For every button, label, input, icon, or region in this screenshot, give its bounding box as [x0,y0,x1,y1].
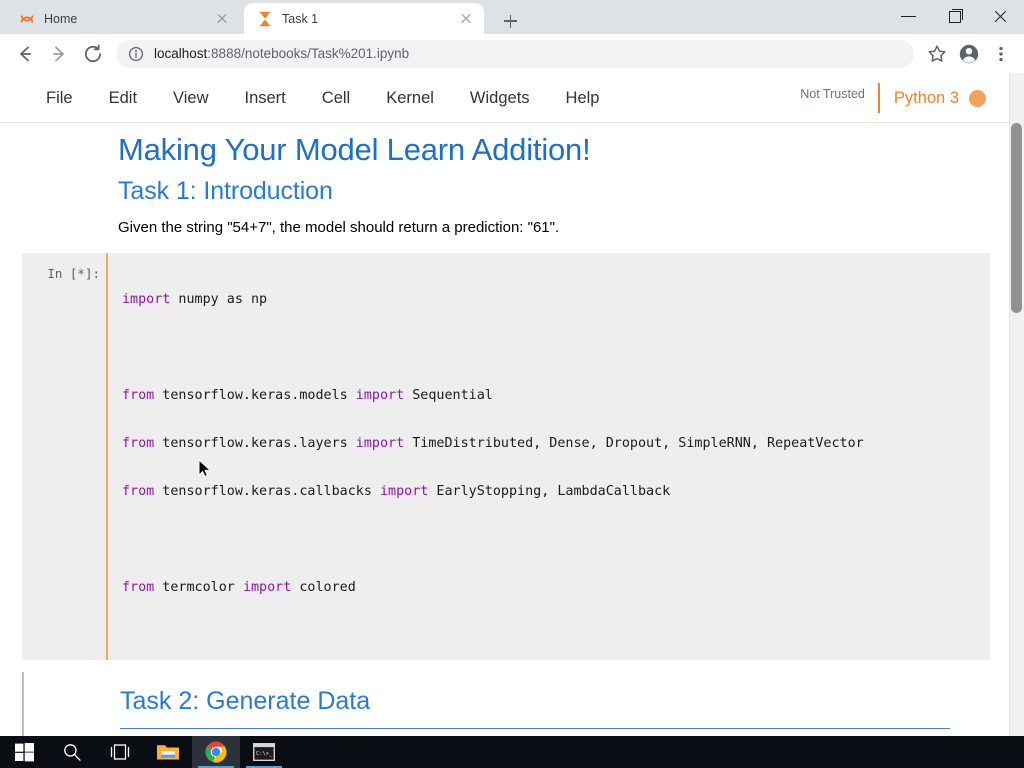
code-blank-line [122,528,990,552]
folder-icon [156,742,180,762]
code-text: numpy as np [170,292,267,307]
tab-title: Home [44,12,205,26]
code-keyword: import [122,292,170,307]
code-text: termcolor [154,580,243,595]
start-button[interactable] [0,736,48,768]
profile-avatar-icon[interactable] [954,39,984,69]
url-path: :8888/notebooks/Task%201.ipynb [207,46,409,61]
browser-tab-home[interactable]: Home [6,3,240,34]
svg-text:C:\>_: C:\>_ [256,751,273,757]
back-icon[interactable] [8,37,42,71]
tab-strip: Home Task 1 [0,0,1024,34]
toolbar-right-icons [922,39,1016,69]
reload-icon[interactable] [76,37,110,71]
code-text: colored [291,580,356,595]
code-line: from tensorflow.keras.callbacks import E… [122,480,990,504]
vertical-scrollbar[interactable] [1009,73,1024,736]
notebook-title: Making Your Model Learn Addition! [118,130,972,171]
code-keyword: import [356,436,404,451]
code-cell-imports[interactable]: In [*]: import numpy as np from tensorfl… [22,253,990,660]
terminal-button[interactable]: C:\>_ [240,736,288,768]
close-icon[interactable] [214,11,230,27]
code-keyword: from [122,436,154,451]
markdown-cell-intro[interactable]: Making Your Model Learn Addition! Task 1… [22,124,990,239]
cell-prompt: In [*]: [22,253,106,660]
terminal-icon: C:\>_ [253,743,275,761]
file-explorer-button[interactable] [144,736,192,768]
jupyter-menubar: File Edit View Insert Cell Kernel Widget… [0,73,1024,123]
menu-help[interactable]: Help [548,73,618,123]
code-text: EarlyStopping, LambdaCallback [428,484,670,499]
more-menu-icon[interactable] [986,39,1016,69]
kernel-status-area: Not Trusted Python 3 [800,73,986,123]
markdown-cell-task2[interactable]: Task 2: Generate Data Note: If you are s… [22,672,990,736]
code-text: Sequential [404,388,493,403]
hourglass-icon [257,11,273,27]
info-circle-icon[interactable] [128,46,144,62]
code-line: from termcolor import colored [122,576,990,600]
kernel-busy-circle-icon [969,90,986,107]
maximize-restore-button[interactable] [932,0,978,32]
task-view-button[interactable] [96,736,144,768]
menu-kernel[interactable]: Kernel [368,73,452,123]
menu-widgets[interactable]: Widgets [452,73,548,123]
task1-heading: Task 1: Introduction [118,175,972,209]
notebook-body: Making Your Model Learn Addition! Task 1… [0,124,1009,736]
menu-insert[interactable]: Insert [227,73,304,123]
address-bar-url: localhost:8888/notebooks/Task%201.ipynb [154,46,409,61]
new-tab-button[interactable] [496,7,524,35]
code-keyword: import [243,580,291,595]
code-line: from tensorflow.keras.models import Sequ… [122,384,990,408]
menu-edit[interactable]: Edit [91,73,155,123]
tab-title: Task 1 [282,12,449,26]
code-text: tensorflow.keras.models [154,388,356,403]
bookmark-star-icon[interactable] [922,39,952,69]
search-button[interactable] [48,736,96,768]
url-host: localhost [154,46,207,61]
forward-icon[interactable] [42,37,76,71]
windows-taskbar: C:\>_ [0,736,1024,768]
code-keyword: from [122,580,154,595]
task-view-icon [109,743,131,761]
close-icon[interactable] [458,11,474,27]
code-text: tensorflow.keras.layers [154,436,356,451]
menu-cell[interactable]: Cell [304,73,368,123]
windows-logo-icon [15,743,34,762]
code-keyword: from [122,388,154,403]
code-editor[interactable]: import numpy as np from tensorflow.keras… [106,253,990,660]
code-keyword: import [356,388,404,403]
scrollbar-thumb[interactable] [1011,123,1022,313]
minimize-button[interactable] [886,0,932,32]
trust-status-label[interactable]: Not Trusted [800,87,878,101]
window-controls [886,0,1024,34]
menu-view[interactable]: View [155,73,226,123]
kernel-name-label[interactable]: Python 3 [880,89,969,108]
code-text: TimeDistributed, Dense, Dropout, SimpleR… [404,436,864,451]
code-line: from tensorflow.keras.layers import Time… [122,432,990,456]
jupyter-logo-icon [19,11,35,27]
code-line: import numpy as np [122,288,990,312]
task2-note: Note: If you are starting the notebook f… [120,729,950,736]
close-window-button[interactable] [978,0,1024,32]
code-text: tensorflow.keras.callbacks [154,484,380,499]
chrome-icon [205,741,227,763]
menu-file[interactable]: File [28,73,91,123]
address-bar[interactable]: localhost:8888/notebooks/Task%201.ipynb [116,40,914,68]
browser-toolbar: localhost:8888/notebooks/Task%201.ipynb [0,34,1024,73]
code-blank-line [122,336,990,360]
page-viewport: File Edit View Insert Cell Kernel Widget… [0,73,1024,736]
task2-heading: Task 2: Generate Data [120,684,950,729]
browser-tab-task-1[interactable]: Task 1 [244,3,484,34]
search-icon [62,742,82,762]
jupyter-menu-items: File Edit View Insert Cell Kernel Widget… [28,73,617,123]
browser-window: Home Task 1 [0,0,1024,736]
code-keyword: import [380,484,428,499]
code-keyword: from [122,484,154,499]
task1-paragraph: Given the string "54+7", the model shoul… [118,217,972,239]
chrome-button[interactable] [192,736,240,768]
